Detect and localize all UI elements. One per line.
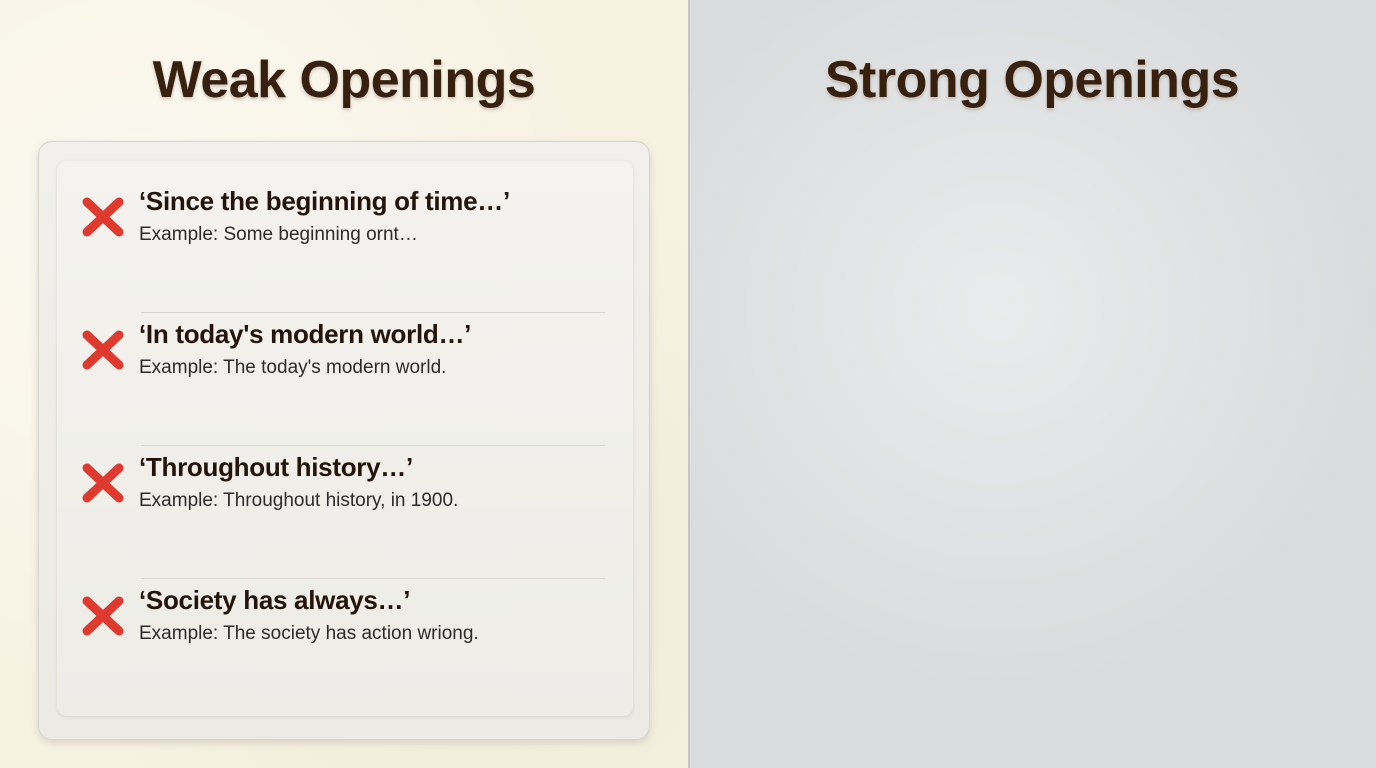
list-item-text: ‘In today's modern world…’ Example: The … xyxy=(133,320,611,380)
list-item-example: Example: The society has action wriong. xyxy=(139,623,611,646)
strong-openings-panel: Strong Openings TECH ADOPTION RATES xyxy=(688,0,1376,768)
list-item-title: ‘In today's modern world…’ xyxy=(139,320,611,350)
weak-openings-list: ‘Since the beginning of time…’ Example: … xyxy=(57,161,633,716)
list-item-example: Example: Throughout history, in 1900. xyxy=(139,490,611,513)
list-item-example: Example: The today's modern world. xyxy=(139,357,611,380)
list-item-text: ‘Society has always…’ Example: The socie… xyxy=(133,586,611,646)
page-title-weak: Weak Openings xyxy=(0,0,688,110)
list-item[interactable]: ‘In today's modern world…’ Example: The … xyxy=(79,312,611,445)
red-x-icon xyxy=(79,586,133,638)
list-item-example: Example: Some beginning ornt… xyxy=(139,224,611,247)
list-item[interactable]: ‘Throughout history…’ Example: Throughou… xyxy=(79,445,611,578)
weak-openings-card: ‘Since the beginning of time…’ Example: … xyxy=(38,141,650,740)
list-item-title: ‘Since the beginning of time…’ xyxy=(139,187,611,217)
page-title-strong: Strong Openings xyxy=(688,0,1376,110)
red-x-icon xyxy=(79,453,133,505)
list-item-title: ‘Throughout history…’ xyxy=(139,453,611,483)
panel-divider xyxy=(688,0,690,768)
list-item-text: ‘Since the beginning of time…’ Example: … xyxy=(133,187,611,247)
weak-openings-panel: Weak Openings ‘Since the beginning of ti… xyxy=(0,0,688,768)
list-item-title: ‘Society has always…’ xyxy=(139,586,611,616)
list-item[interactable]: ‘Society has always…’ Example: The socie… xyxy=(79,578,611,711)
red-x-icon xyxy=(79,320,133,372)
list-item-text: ‘Throughout history…’ Example: Throughou… xyxy=(133,453,611,513)
red-x-icon xyxy=(79,187,133,239)
list-item[interactable]: ‘Since the beginning of time…’ Example: … xyxy=(79,179,611,312)
